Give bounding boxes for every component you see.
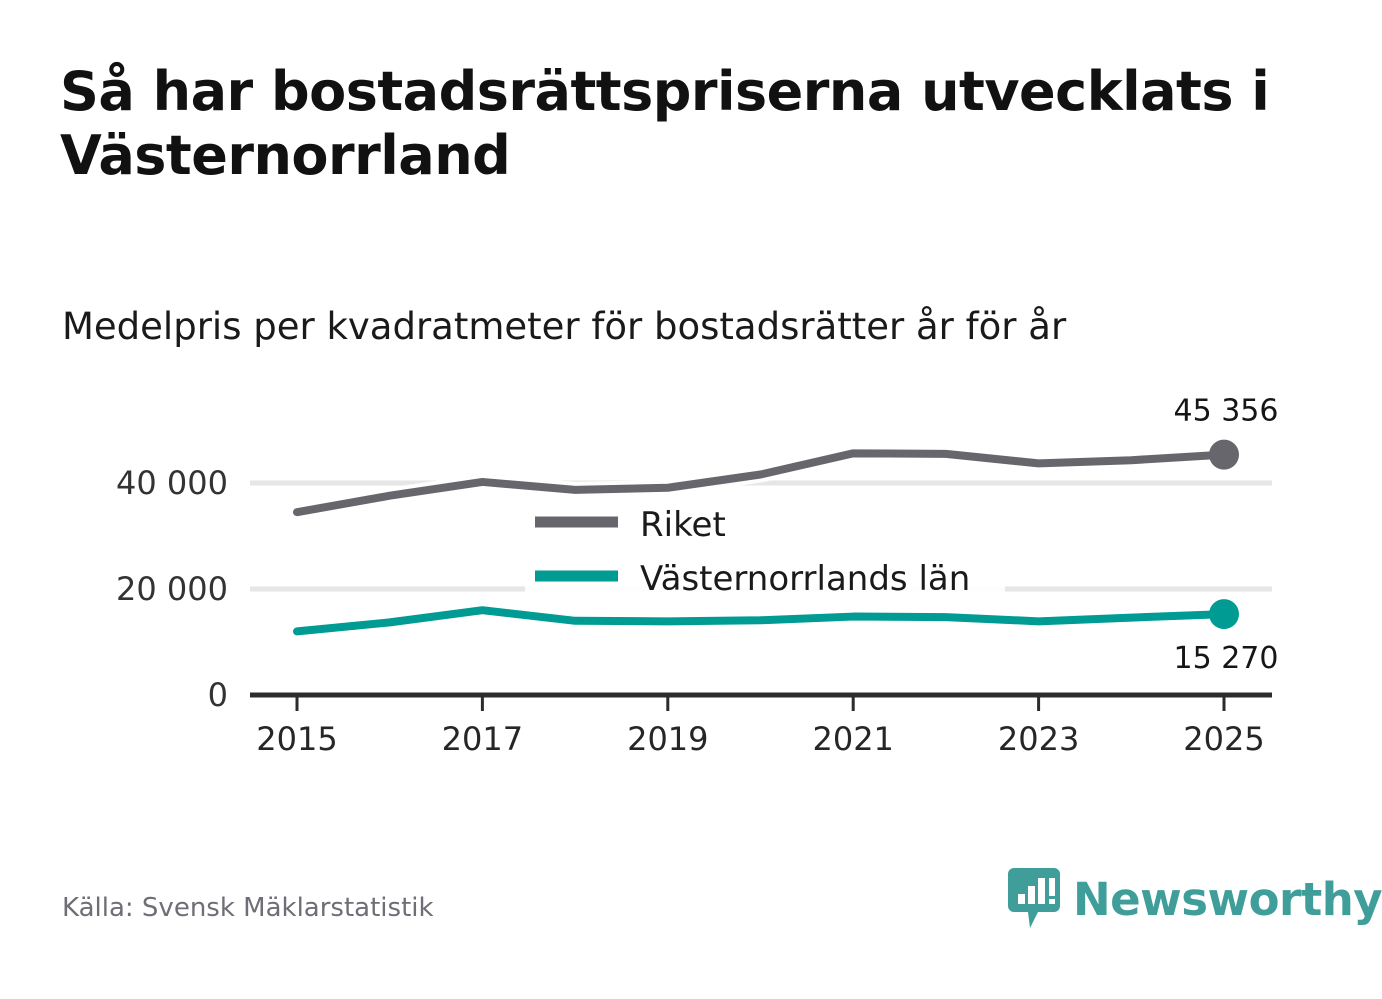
source-note: Källa: Svensk Mäklarstatistik xyxy=(62,893,434,923)
x-tick-labels: 201520172019202120232025 xyxy=(256,720,1264,758)
y-tick-label: 20 000 xyxy=(116,570,228,608)
series-end-value-label: 15 270 xyxy=(1174,641,1279,676)
series-lines xyxy=(297,453,1224,631)
line-chart: 201520172019202120232025 020 00040 000 4… xyxy=(0,0,1382,999)
legend-label: Riket xyxy=(640,505,726,545)
y-tick-labels: 020 00040 000 xyxy=(116,464,228,714)
chart-svg: 201520172019202120232025 020 00040 000 4… xyxy=(0,0,1382,999)
x-tick-label: 2017 xyxy=(442,720,523,758)
series-end-value-label: 45 356 xyxy=(1174,394,1279,429)
series-endpoint-dot xyxy=(1209,599,1239,629)
series-value-labels: 45 35615 270 xyxy=(1174,394,1279,676)
chart-legend: RiketVästernorrlands län xyxy=(525,502,1005,599)
chart-page: Så har bostadsrättspriserna utvecklats i… xyxy=(0,0,1382,999)
x-tick-label: 2023 xyxy=(998,720,1079,758)
series-endpoint-markers xyxy=(1209,440,1239,629)
bar-chart-speech-bubble-icon xyxy=(1008,868,1060,930)
x-tick-label: 2015 xyxy=(256,720,337,758)
x-axis xyxy=(250,695,1272,711)
series-endpoint-dot xyxy=(1209,440,1239,470)
legend-label: Västernorrlands län xyxy=(640,559,970,599)
x-tick-label: 2021 xyxy=(812,720,893,758)
y-tick-label: 40 000 xyxy=(116,464,228,502)
y-tick-label: 0 xyxy=(208,676,228,714)
logo-wordmark: Newsworthy xyxy=(1073,877,1382,922)
x-tick-label: 2019 xyxy=(627,720,708,758)
x-tick-label: 2025 xyxy=(1183,720,1264,758)
newsworthy-logo: Newsworthy xyxy=(1008,868,1382,930)
